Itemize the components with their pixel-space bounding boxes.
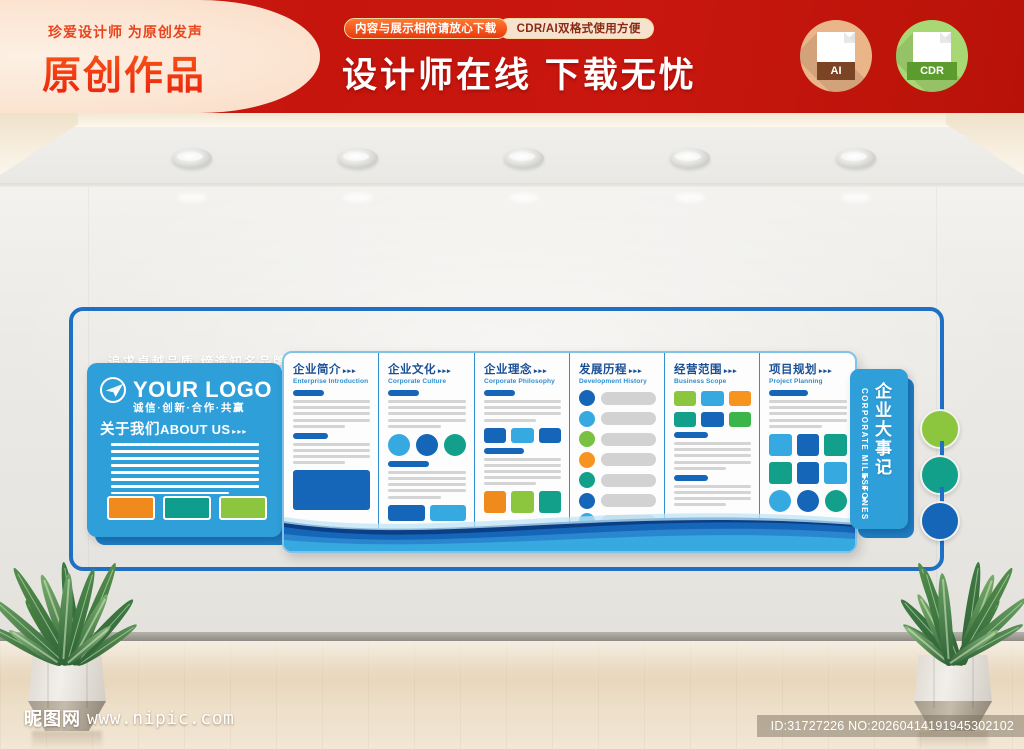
text-line-group: [388, 471, 466, 499]
milestones-arrows: ▼▼▼: [860, 473, 869, 504]
square-group: [674, 391, 751, 406]
cdr-icon-label: CDR: [907, 62, 957, 80]
text-line: [484, 458, 561, 461]
text-line: [484, 470, 561, 473]
color-square: [824, 434, 847, 456]
text-line: [293, 412, 370, 415]
pot-seam: [972, 655, 974, 708]
color-square: [511, 428, 533, 443]
color-square: [701, 391, 723, 406]
accent-bar: [293, 433, 328, 439]
accent-bar: [769, 390, 808, 396]
color-circle: [388, 434, 410, 456]
color-square: [674, 412, 696, 427]
column-title-cn: 经营范围▸▸▸: [674, 361, 751, 377]
milestones-card: 企业大事记 CORPORATE MILESTONES ▼▼▼: [850, 369, 908, 529]
text-line: [293, 455, 370, 458]
text-line: [388, 496, 441, 499]
logo-text: YOUR LOGO: [133, 379, 272, 401]
text-line: [674, 497, 751, 500]
column-title-cn: 发展历程▸▸▸: [579, 361, 656, 377]
color-square: [729, 412, 751, 427]
timeline-item: [579, 472, 656, 488]
timeline-pill: [601, 433, 656, 446]
text-line: [674, 454, 751, 457]
column-body: [484, 390, 561, 513]
column-arrows-icon: ▸▸▸: [819, 368, 833, 375]
text-line: [484, 476, 561, 479]
text-line: [111, 485, 259, 488]
column-title-en: Business Scope: [674, 378, 751, 385]
text-line: [484, 406, 561, 409]
text-line: [484, 482, 536, 485]
accent-bar: [484, 448, 524, 454]
column-title-cn: 企业理念▸▸▸: [484, 361, 561, 377]
ai-icon-label: AI: [817, 62, 855, 80]
pot-reflection: [32, 731, 102, 749]
text-line-group: [674, 442, 751, 470]
badge-content-match: 内容与展示相符请放心下载: [344, 18, 508, 39]
square-group: [769, 434, 847, 456]
column-arrows-icon: ▸▸▸: [724, 368, 738, 375]
downlight: [504, 148, 544, 168]
text-line: [111, 478, 259, 481]
text-line: [388, 406, 466, 409]
watermark-cn: 昵图网: [24, 705, 81, 731]
promo-banner: 珍爱设计师 为原创发声 原创作品 内容与展示相符请放心下载 CDR/AI双格式使…: [0, 0, 1024, 113]
text-line-group: [674, 485, 751, 507]
banner-slogan: 设计师在线 下载无忧: [342, 47, 697, 98]
text-line: [769, 400, 847, 403]
color-square: [769, 434, 792, 456]
timeline-pill: [601, 412, 656, 425]
logo-subtitle: 诚信·创新·合作·共赢: [133, 400, 245, 415]
downlight: [670, 148, 710, 168]
text-line: [293, 400, 370, 403]
accent-bar: [293, 390, 324, 396]
ai-file-icon: AI: [800, 20, 872, 92]
downlight: [172, 148, 212, 168]
office-room-scene: 追求卓越品质 缔造知名品牌 YOUR LOGO 诚信·创新·合作·共赢 关于我们…: [0, 113, 1024, 749]
text-line: [111, 471, 259, 474]
text-line: [769, 412, 847, 415]
banner-left-title: 原创作品: [42, 45, 206, 101]
info-board: 企业简介▸▸▸Enterprise Introduction企业文化▸▸▸Cor…: [282, 351, 857, 553]
pot-seam: [933, 655, 935, 708]
accent-bar: [674, 475, 708, 481]
column-title-en: Corporate Culture: [388, 378, 466, 385]
text-line: [769, 425, 822, 428]
timeline-item: [579, 431, 656, 447]
text-line: [388, 489, 466, 492]
wall-light-reflection: [177, 193, 207, 202]
text-line: [111, 443, 259, 446]
about-us-heading: 关于我们 ABOUT US ▸▸▸: [100, 418, 247, 439]
column-body: [674, 391, 751, 506]
watermark-url: www.nipic.com: [87, 708, 234, 729]
asset-id-label: ID:31727226 NO:20260414191945302102: [757, 715, 1024, 737]
square-group: [484, 428, 561, 443]
column-title-cn: 项目规划▸▸▸: [769, 361, 847, 377]
text-line: [293, 425, 345, 428]
text-line: [388, 419, 466, 422]
text-line: [388, 412, 466, 415]
timeline-item: [579, 411, 656, 427]
text-line-group: [293, 443, 370, 465]
column-title-cn: 企业简介▸▸▸: [293, 361, 370, 377]
text-line: [674, 491, 751, 494]
color-circle: [444, 434, 466, 456]
badge-dual-format: CDR/AI双格式使用方便: [498, 18, 654, 39]
down-arrow-icon: ▼: [860, 484, 869, 493]
text-line-group: [769, 400, 847, 428]
color-circle: [416, 434, 438, 456]
timeline-dot: [579, 390, 595, 406]
timeline-dot: [579, 472, 595, 488]
column-body: [388, 390, 466, 521]
square-group: [769, 462, 847, 484]
column-body: [769, 390, 847, 512]
about-us-arrows: ▸▸▸: [232, 427, 247, 436]
text-line: [484, 412, 561, 415]
wall-light-reflection: [675, 193, 705, 202]
about-us-text-lines: [111, 443, 259, 499]
text-line: [388, 483, 466, 486]
banner-tag-row: 内容与展示相符请放心下载 CDR/AI双格式使用方便: [344, 18, 654, 39]
text-line: [674, 467, 726, 470]
text-line: [484, 400, 561, 403]
column-arrows-icon: ▸▸▸: [629, 368, 643, 375]
text-line: [293, 419, 370, 422]
text-line: [111, 450, 259, 453]
timeline-dot: [579, 411, 595, 427]
text-line-group: [293, 400, 370, 428]
column-title-en: Development History: [579, 378, 656, 385]
circle-group: [388, 434, 466, 456]
accent-bar: [388, 390, 419, 396]
column-arrows-icon: ▸▸▸: [438, 368, 452, 375]
timeline-dot: [579, 452, 595, 468]
chip-green: [219, 496, 267, 520]
about-us-en: ABOUT US: [160, 422, 230, 437]
timeline-dot: [579, 431, 595, 447]
column-body: [293, 390, 370, 510]
blue-wave-decoration: [284, 505, 855, 551]
text-line: [674, 442, 751, 445]
about-us-cn: 关于我们: [100, 418, 160, 439]
color-square: [701, 412, 723, 427]
ceiling-light-cove: [0, 113, 1024, 127]
text-line: [293, 449, 370, 452]
text-line-group: [388, 400, 466, 428]
text-line: [674, 485, 751, 488]
plant-right: [880, 513, 1024, 749]
text-line: [293, 406, 370, 409]
column-arrows-icon: ▸▸▸: [343, 368, 357, 375]
logo-card: YOUR LOGO 诚信·创新·合作·共赢 关于我们 ABOUT US ▸▸▸: [87, 363, 282, 537]
baseboard: [0, 632, 1024, 641]
column-title-en: Project Planning: [769, 378, 847, 385]
timeline-pill: [601, 474, 656, 487]
text-line: [674, 448, 751, 451]
text-line: [111, 492, 229, 495]
text-line: [388, 477, 466, 480]
chip-teal: [163, 496, 211, 520]
site-watermark: 昵图网 www.nipic.com: [24, 705, 234, 731]
text-line: [111, 464, 259, 467]
text-line: [111, 457, 259, 460]
text-line: [388, 425, 441, 428]
paper-plane-icon: [100, 377, 126, 403]
color-square: [797, 462, 820, 484]
downlight: [338, 148, 378, 168]
accent-bar: [484, 390, 515, 396]
timeline-pill: [601, 453, 656, 466]
color-square: [729, 391, 751, 406]
cdr-file-icon: CDR: [896, 20, 968, 92]
square-group: [674, 412, 751, 427]
timeline-item: [579, 390, 656, 406]
accent-bar: [674, 432, 708, 438]
color-square: [484, 428, 506, 443]
text-line: [388, 471, 466, 474]
banner-left-subtitle: 珍爱设计师 为原创发声: [48, 22, 203, 42]
text-line: [293, 461, 345, 464]
text-line: [484, 464, 561, 467]
text-line: [293, 443, 370, 446]
column-title-cn: 企业文化▸▸▸: [388, 361, 466, 377]
wall-light-reflection: [343, 193, 373, 202]
downlight: [836, 148, 876, 168]
text-line: [388, 400, 466, 403]
wall-light-reflection: [509, 193, 539, 202]
color-square: [824, 462, 847, 484]
column-arrows-icon: ▸▸▸: [534, 368, 548, 375]
text-line: [674, 461, 751, 464]
text-line-group: [484, 400, 561, 422]
down-arrow-icon: ▼: [860, 473, 869, 482]
timeline-pill: [601, 392, 656, 405]
text-line: [484, 419, 536, 422]
down-arrow-icon: ▼: [860, 495, 869, 504]
color-square: [769, 462, 792, 484]
milestones-title-cn: 企业大事记: [872, 382, 890, 477]
text-line: [769, 419, 847, 422]
timeline-item: [579, 452, 656, 468]
text-line-group: [484, 458, 561, 486]
color-square: [797, 434, 820, 456]
color-square: [539, 428, 561, 443]
wall-light-reflection: [841, 193, 871, 202]
color-square: [674, 391, 696, 406]
column-title-en: Enterprise Introduction: [293, 378, 370, 385]
text-line: [769, 406, 847, 409]
accent-bar: [388, 461, 429, 467]
column-title-en: Corporate Philosophy: [484, 378, 561, 385]
